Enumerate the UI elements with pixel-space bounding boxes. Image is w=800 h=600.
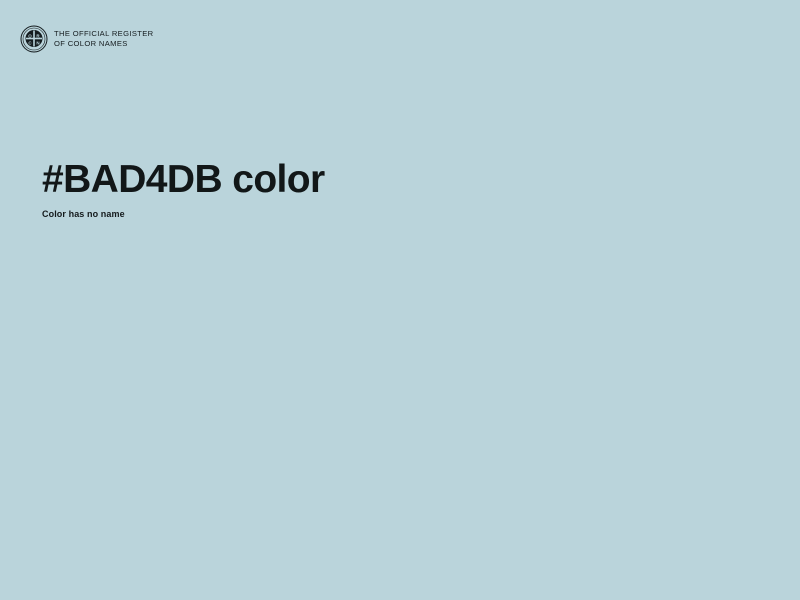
official-register-seal-icon: O R C N · · · · (20, 25, 48, 53)
svg-text:· · · ·: · · · · (32, 50, 37, 52)
brand-title-line-2: OF COLOR NAMES (54, 39, 153, 49)
brand-title-block: THE OFFICIAL REGISTER OF COLOR NAMES (52, 29, 153, 48)
svg-text:O: O (28, 33, 32, 38)
color-name-status: Color has no name (42, 208, 125, 220)
svg-text:N: N (36, 41, 39, 46)
color-detail-page: O R C N · · · · THE OFFICIAL REGISTER OF… (0, 0, 800, 600)
page-title: #BAD4DB color (42, 157, 325, 203)
site-brand-lockup[interactable]: O R C N · · · · THE OFFICIAL REGISTER OF… (20, 25, 153, 53)
color-swatch-area (0, 230, 800, 600)
brand-title-line-1: THE OFFICIAL REGISTER (54, 29, 153, 39)
